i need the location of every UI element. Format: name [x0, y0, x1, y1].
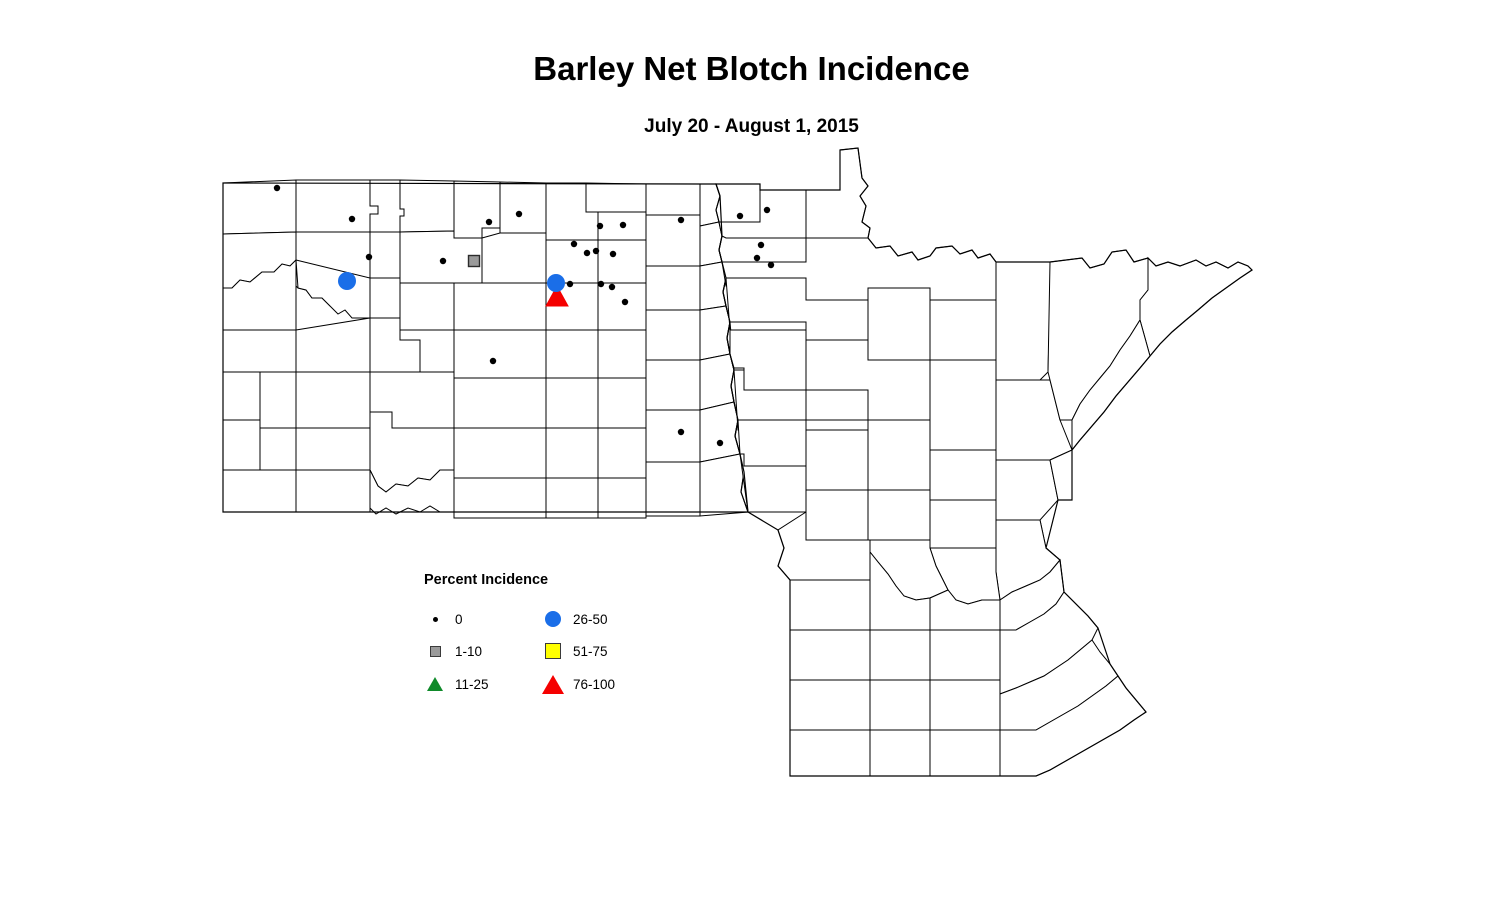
yellow-square-icon	[542, 640, 564, 662]
legend-item-11-25-label: 11-25	[455, 677, 489, 692]
map-marker-0	[366, 254, 372, 260]
legend-item-76-100[interactable]: 76-100	[542, 673, 615, 695]
legend-item-0[interactable]: 0	[424, 608, 463, 630]
legend-item-26-50[interactable]: 26-50	[542, 608, 608, 630]
legend-item-0-label: 0	[455, 612, 463, 627]
map-marker-0	[584, 250, 590, 256]
map-marker-0	[758, 242, 764, 248]
map-marker-0	[597, 223, 603, 229]
map-page: Barley Net Blotch Incidence July 20 - Au…	[0, 0, 1503, 900]
legend-item-76-100-label: 76-100	[573, 677, 615, 692]
small-dot-icon	[424, 608, 446, 630]
legend-item-51-75[interactable]: 51-75	[542, 640, 608, 662]
map-marker-0	[678, 429, 684, 435]
legend-item-51-75-label: 51-75	[573, 644, 608, 659]
legend-item-11-25[interactable]: 11-25	[424, 673, 489, 695]
map-marker-0	[598, 281, 604, 287]
map-marker-0	[516, 211, 522, 217]
map-marker-0	[567, 281, 573, 287]
map-marker-0	[754, 255, 760, 261]
map-marker-1-10	[469, 256, 480, 267]
green-triangle-icon	[424, 673, 446, 695]
map-marker-0	[609, 284, 615, 290]
gray-square-icon	[424, 640, 446, 662]
map-marker-0	[717, 440, 723, 446]
map-marker-0	[440, 258, 446, 264]
legend-title: Percent Incidence	[424, 572, 548, 588]
map-marker-0	[571, 241, 577, 247]
legend-item-1-10-label: 1-10	[455, 644, 482, 659]
map-marker-0	[490, 358, 496, 364]
blue-circle-icon	[542, 608, 564, 630]
map-marker-0	[486, 219, 492, 225]
map-marker-0	[622, 299, 628, 305]
map-svg	[0, 0, 1503, 900]
map-marker-26-50	[338, 272, 356, 290]
map-marker-0	[737, 213, 743, 219]
map-marker-0	[349, 216, 355, 222]
red-triangle-icon	[542, 673, 564, 695]
map-marker-0	[764, 207, 770, 213]
map-legend: Percent Incidence 0 1-10 11-25 26-50 51-…	[424, 572, 684, 704]
map-marker-0	[274, 185, 280, 191]
map-marker-0	[620, 222, 626, 228]
map-marker-0	[610, 251, 616, 257]
map-marker-0	[768, 262, 774, 268]
minnesota-counties	[719, 148, 1252, 776]
map-marker-0	[593, 248, 599, 254]
map-marker-26-50	[547, 274, 565, 292]
legend-item-1-10[interactable]: 1-10	[424, 640, 482, 662]
map-canvas	[0, 0, 1503, 900]
map-marker-0	[678, 217, 684, 223]
legend-item-26-50-label: 26-50	[573, 612, 608, 627]
north-dakota-counties	[223, 180, 748, 518]
